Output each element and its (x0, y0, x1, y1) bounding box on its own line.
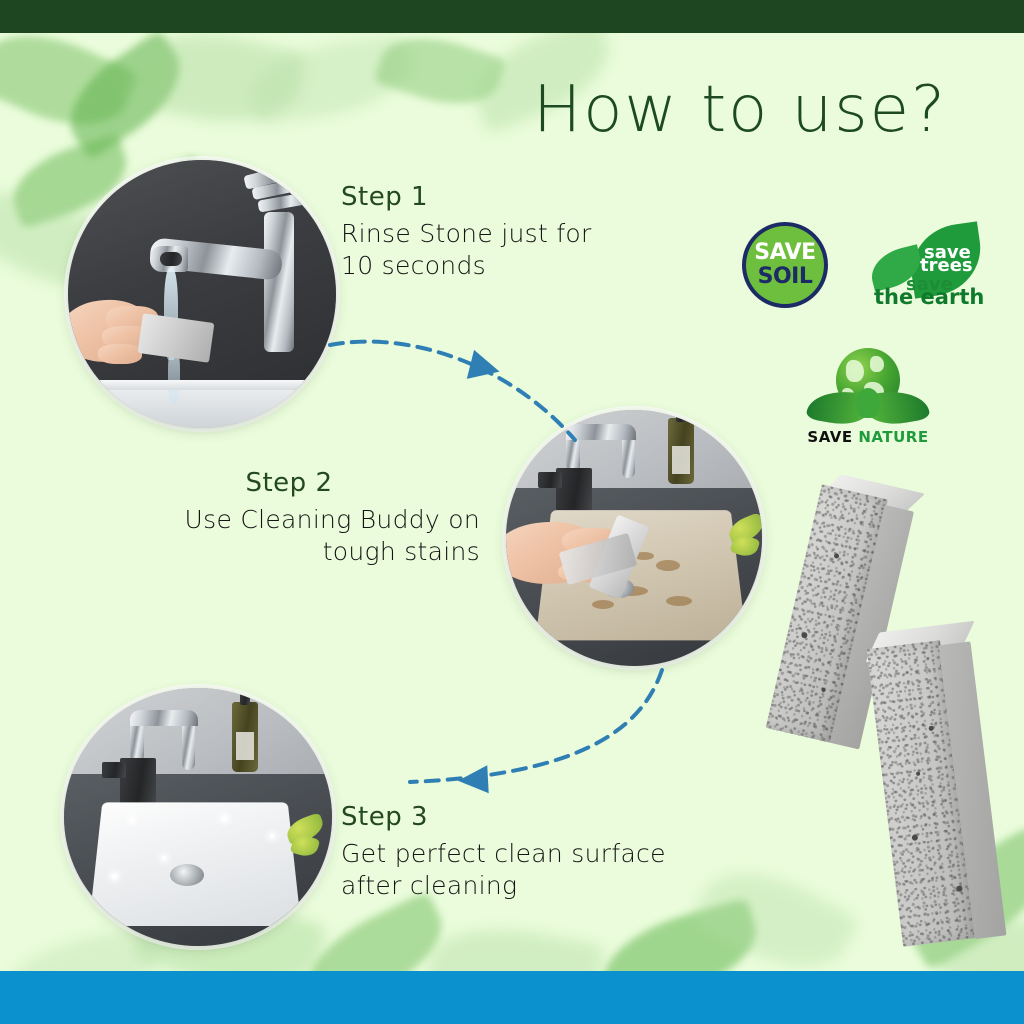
step-2-text-block: Step 2 Use Cleaning Buddy on tough stain… (120, 468, 480, 568)
page-title: How to use? (470, 78, 1010, 142)
step-2-heading: Step 2 (120, 468, 480, 498)
save-soil-badge: SAVE SOIL (742, 222, 828, 308)
step-3-text-block: Step 3 Get perfect clean surface after c… (341, 802, 701, 902)
sprout-icon (856, 388, 880, 418)
top-border-bar (0, 0, 1024, 33)
arrow-step2-to-step3 (340, 640, 680, 820)
bottom-border-bar (0, 971, 1024, 1024)
step-3-body: Get perfect clean surface after cleaning (341, 838, 701, 902)
save-nature-word2: NATURE (858, 428, 928, 446)
save-soil-line2: SOIL (758, 266, 813, 288)
save-trees-line4: the earth (874, 288, 984, 308)
poster-canvas: How to use? (0, 0, 1024, 1024)
save-soil-line1: SAVE (754, 242, 815, 264)
save-nature-label: SAVE NATURE (800, 428, 936, 446)
save-nature-word1: SAVE (807, 428, 852, 446)
save-nature-badge: SAVE NATURE (800, 348, 936, 448)
step-1-heading: Step 1 (341, 182, 641, 212)
scrubbing-stained-sink-photo (506, 410, 762, 666)
save-trees-line2: trees (920, 257, 973, 274)
step-2-body: Use Cleaning Buddy on tough stains (120, 504, 480, 568)
save-trees-badge: save trees save the earth (862, 224, 992, 314)
step-1-text-block: Step 1 Rinse Stone just for 10 seconds (341, 182, 641, 282)
clean-sink-result-photo (64, 688, 332, 946)
step-3-heading: Step 3 (341, 802, 701, 832)
step-1-body: Rinse Stone just for 10 seconds (341, 218, 641, 282)
rinsing-stone-under-faucet-photo (68, 160, 336, 428)
